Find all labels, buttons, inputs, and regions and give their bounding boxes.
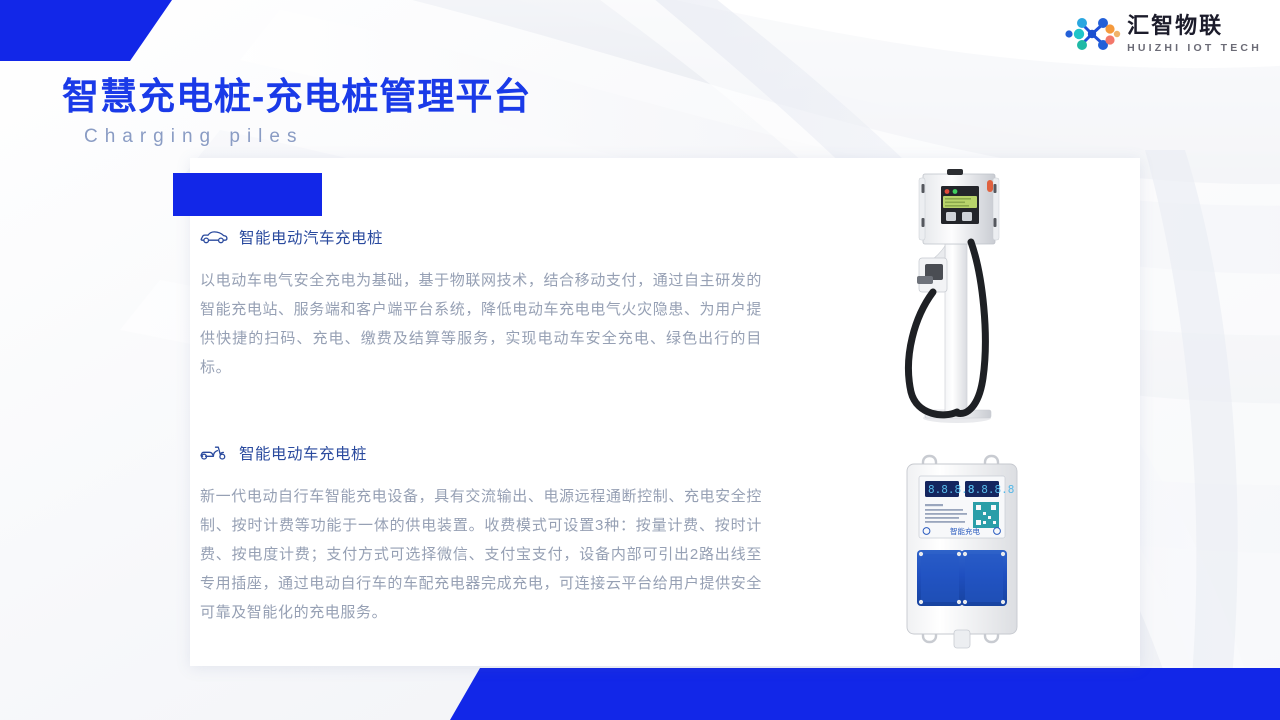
section-title: 智能电动车充电桩 (239, 442, 367, 464)
section-body: 以电动车电气安全充电为基础，基于物联网技术，结合移动支付，通过自主研发的智能充电… (200, 266, 762, 382)
ev-charging-pile-photo (875, 166, 1075, 426)
logo-name-en: HUIZHI IOT TECH (1127, 42, 1262, 54)
section-header: 智能电动汽车充电桩 (200, 226, 775, 248)
logo-name-cn: 汇智物联 (1127, 14, 1223, 38)
content-card: 智能电动汽车充电桩 以电动车电气安全充电为基础，基于物联网技术，结合移动支付，通… (190, 158, 1140, 666)
page-title: 智慧充电桩-充电桩管理平台 (62, 66, 531, 120)
svg-text:8.8.8.8: 8.8.8.8 (968, 483, 1014, 496)
section-body: 新一代电动自行车智能充电设备，具有交流输出、电源远程通断控制、充电安全控制、按时… (200, 482, 762, 627)
scooter-icon (200, 443, 228, 463)
car-icon (200, 227, 228, 247)
section-title: 智能电动汽车充电桩 (239, 226, 383, 248)
page-subtitle: Charging piles (84, 126, 303, 148)
bottom-blue-band (450, 668, 1280, 720)
section-header: 智能电动车充电桩 (200, 442, 775, 464)
section-tab-banner (173, 173, 322, 216)
molecule-network-icon (1063, 14, 1121, 54)
svg-text:智能充电: 智能充电 (950, 526, 980, 536)
section-ebike-pile: 智能电动车充电桩 新一代电动自行车智能充电设备，具有交流输出、电源远程通断控制、… (200, 442, 775, 627)
brand-logo: 汇智物联 HUIZHI IOT TECH (1063, 14, 1262, 54)
dual-socket-charging-box-photo: 8.8.8.8 8.8.8.8 智能充电 (875, 450, 1075, 650)
section-ev-car-pile: 智能电动汽车充电桩 以电动车电气安全充电为基础，基于物联网技术，结合移动支付，通… (200, 226, 775, 382)
